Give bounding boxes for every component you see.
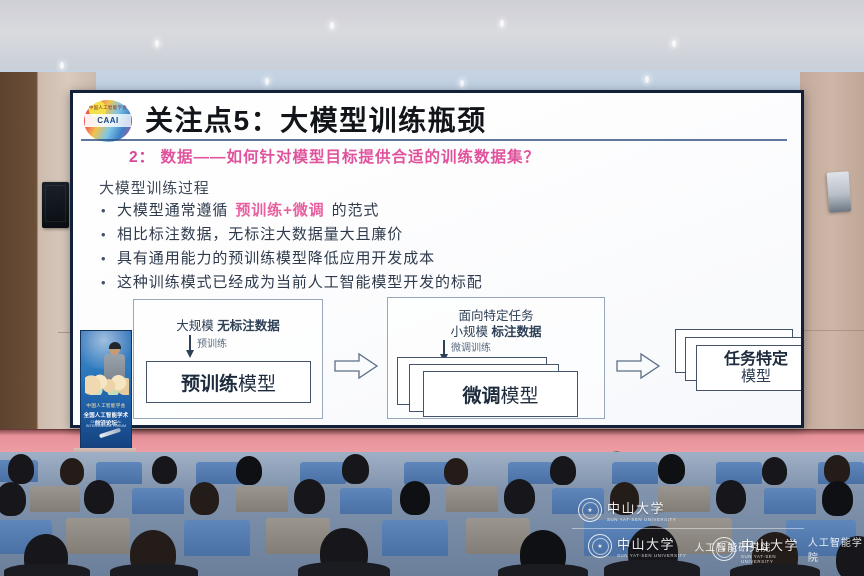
list-item: • 这种训练模式已经成为当前人工智能模型开发的标配	[101, 273, 783, 293]
audience-head	[294, 479, 325, 514]
task-box-bold: 任务特定	[724, 352, 788, 369]
watermark-divider	[572, 528, 804, 529]
watermark-en: SUN YAT-SEN UNIVERSITY	[617, 553, 686, 558]
ceiling-spotlight	[155, 40, 159, 47]
audience-head	[400, 481, 430, 515]
bullet-marker: •	[101, 225, 117, 245]
caai-logo-icon: 中国人工智能学会 CAAI	[82, 99, 134, 143]
wall-speaker-left	[42, 182, 69, 228]
audience-head	[84, 480, 114, 514]
slide-title: 关注点5：大模型训练瓶颈	[145, 99, 781, 139]
list-item: • 大模型通常遵循 预训练+微调 的范式	[101, 201, 783, 221]
bullet-marker: •	[101, 273, 117, 293]
stage1-arrow	[189, 335, 191, 351]
audience-head	[190, 482, 219, 515]
seat	[30, 486, 80, 512]
bullet-text: 大模型通常遵循 预训练+微调 的范式	[117, 201, 379, 221]
logo-top-text: 中国人工智能学会	[82, 105, 134, 111]
watermark-cn: 中山大学	[741, 535, 800, 554]
university-seal-icon: ★	[712, 537, 736, 561]
training-pipeline-diagram: 大规模 无标注数据 预训练 预训练模型 面向特定任务	[91, 299, 791, 421]
seat	[446, 486, 498, 512]
audience-head	[550, 456, 576, 485]
bullet-list: • 大模型通常遵循 预训练+微调 的范式 • 相比标注数据，无标注大数据量大且廉…	[101, 201, 783, 297]
seat	[340, 488, 392, 514]
seat	[764, 488, 816, 514]
stage2-arrow-label: 微调训练	[451, 339, 491, 354]
audience-shoulders	[110, 564, 198, 576]
slide-subtitle: 2： 数据——如何针对模型目标提供合适的训练数据集？	[129, 145, 785, 167]
list-item: • 相比标注数据，无标注大数据量大且廉价	[101, 225, 783, 245]
banner-line-3: CHINA ARTIFICIAL INTELLIGENCE FORUM	[81, 420, 131, 428]
bullet-text: 相比标注数据，无标注大数据量大且廉价	[117, 225, 403, 245]
audience-head	[342, 454, 369, 484]
seat	[612, 462, 658, 484]
flower-arrangement	[85, 373, 129, 395]
audience-head	[658, 454, 685, 484]
pretrain-box-bold: 预训练	[181, 374, 238, 395]
university-seal-icon: ★	[588, 534, 612, 558]
watermark-university: ★ 中山大学 SUN YAT-SEN UNIVERSITY	[578, 498, 676, 522]
stage1-input-label: 大规模 无标注数据	[133, 315, 323, 334]
ceiling-spotlight	[500, 20, 504, 27]
audience-head	[504, 479, 535, 514]
audience-head	[60, 458, 84, 485]
right-wall	[800, 72, 864, 452]
subtitle-text: 数据——如何针对模型目标提供合适的训练数据集？	[160, 149, 540, 166]
ceiling-spotlight	[60, 62, 64, 69]
flow-arrow-2	[615, 351, 661, 381]
finetuned-model-box: 微调模型	[423, 371, 578, 417]
watermark-en: SUN YAT-SEN UNIVERSITY	[741, 554, 800, 564]
watermark-en: SUN YAT-SEN UNIVERSITY	[607, 517, 676, 522]
finetune-box-plain: 模型	[501, 386, 539, 407]
podium-with-speaker: 中国人工智能学会 全国人工智能学术前沿论坛 CHINA ARTIFICIAL I…	[74, 330, 136, 456]
stage2-input-line2: 小规模 标注数据	[387, 321, 605, 340]
seat	[184, 520, 250, 556]
screenshot-scene: 中国人工智能学会 CAAI 关注点5：大模型训练瓶颈 2： 数据——如何针对模型…	[0, 0, 864, 576]
audience-shoulders	[498, 564, 588, 576]
audience-shoulders	[4, 564, 90, 576]
seat	[236, 486, 288, 512]
audience-head	[152, 456, 177, 484]
task-box-plain: 模型	[741, 369, 771, 385]
projected-slide: 中国人工智能学会 CAAI 关注点5：大模型训练瓶颈 2： 数据——如何针对模型…	[73, 93, 801, 425]
banner-line-1: 中国人工智能学会	[81, 403, 131, 409]
audience-head	[762, 457, 787, 485]
seat	[66, 518, 130, 554]
task-specific-model-box: 任务特定 模型	[696, 345, 801, 391]
list-item: • 具有通用能力的预训练模型降低应用开发成本	[101, 249, 783, 269]
watermark-cn: 中山大学	[617, 534, 686, 553]
pretrained-model-box: 预训练模型	[146, 361, 311, 403]
ceiling-spotlight	[460, 80, 464, 87]
podium-banner: 中国人工智能学会 全国人工智能学术前沿论坛 CHINA ARTIFICIAL I…	[80, 330, 132, 452]
projection-screen-frame: 中国人工智能学会 CAAI 关注点5：大模型训练瓶颈 2： 数据——如何针对模型…	[70, 90, 804, 428]
pretrain-box-plain: 模型	[238, 374, 276, 395]
watermark-sub: 人工智能学院	[808, 534, 864, 564]
bullet-highlight: 预训练+微调	[233, 202, 326, 219]
audience-head	[824, 455, 850, 484]
section-lead: 大模型训练过程	[99, 177, 210, 198]
title-divider	[81, 139, 787, 141]
task-specific-model-stack: 任务特定 模型	[675, 329, 801, 399]
audience-head	[0, 482, 26, 516]
audience-shoulders	[730, 564, 820, 576]
finetuned-model-stack: 微调模型	[397, 357, 597, 417]
watermark-cn: 中山大学	[607, 498, 676, 517]
ceiling	[0, 0, 864, 72]
seat	[716, 462, 762, 484]
ceiling-spotlight	[330, 22, 334, 29]
audience-shoulders	[604, 560, 700, 576]
university-seal-icon: ★	[578, 498, 602, 522]
bullet-marker: •	[101, 201, 117, 221]
audience-head	[822, 481, 853, 516]
watermark-school: ★ 中山大学 SUN YAT-SEN UNIVERSITY 人工智能学院	[712, 534, 864, 564]
logo-mark: CAAI	[97, 116, 119, 125]
ceiling-spotlight	[645, 76, 649, 83]
flow-arrow-1	[333, 351, 379, 381]
audience-head	[8, 454, 34, 484]
wall-speaker-right	[827, 171, 852, 212]
subtitle-number: 2：	[129, 149, 155, 166]
stage1-arrow-label: 预训练	[197, 335, 227, 350]
stage2-arrow	[443, 340, 445, 355]
bullet-marker: •	[101, 249, 117, 269]
finetune-box-bold: 微调	[462, 386, 500, 407]
ceiling-spotlight	[265, 78, 269, 85]
bullet-text: 具有通用能力的预训练模型降低应用开发成本	[117, 249, 435, 269]
seat	[132, 488, 184, 514]
audience-shoulders	[298, 562, 390, 576]
bullet-text: 这种训练模式已经成为当前人工智能模型开发的标配	[117, 273, 483, 293]
audience-head	[444, 458, 468, 485]
microphone-icon	[99, 428, 121, 439]
audience-head	[236, 456, 262, 485]
right-wall-seam	[800, 330, 864, 331]
ceiling-spotlight	[672, 40, 676, 47]
audience-head	[716, 480, 746, 514]
seat	[382, 520, 448, 556]
